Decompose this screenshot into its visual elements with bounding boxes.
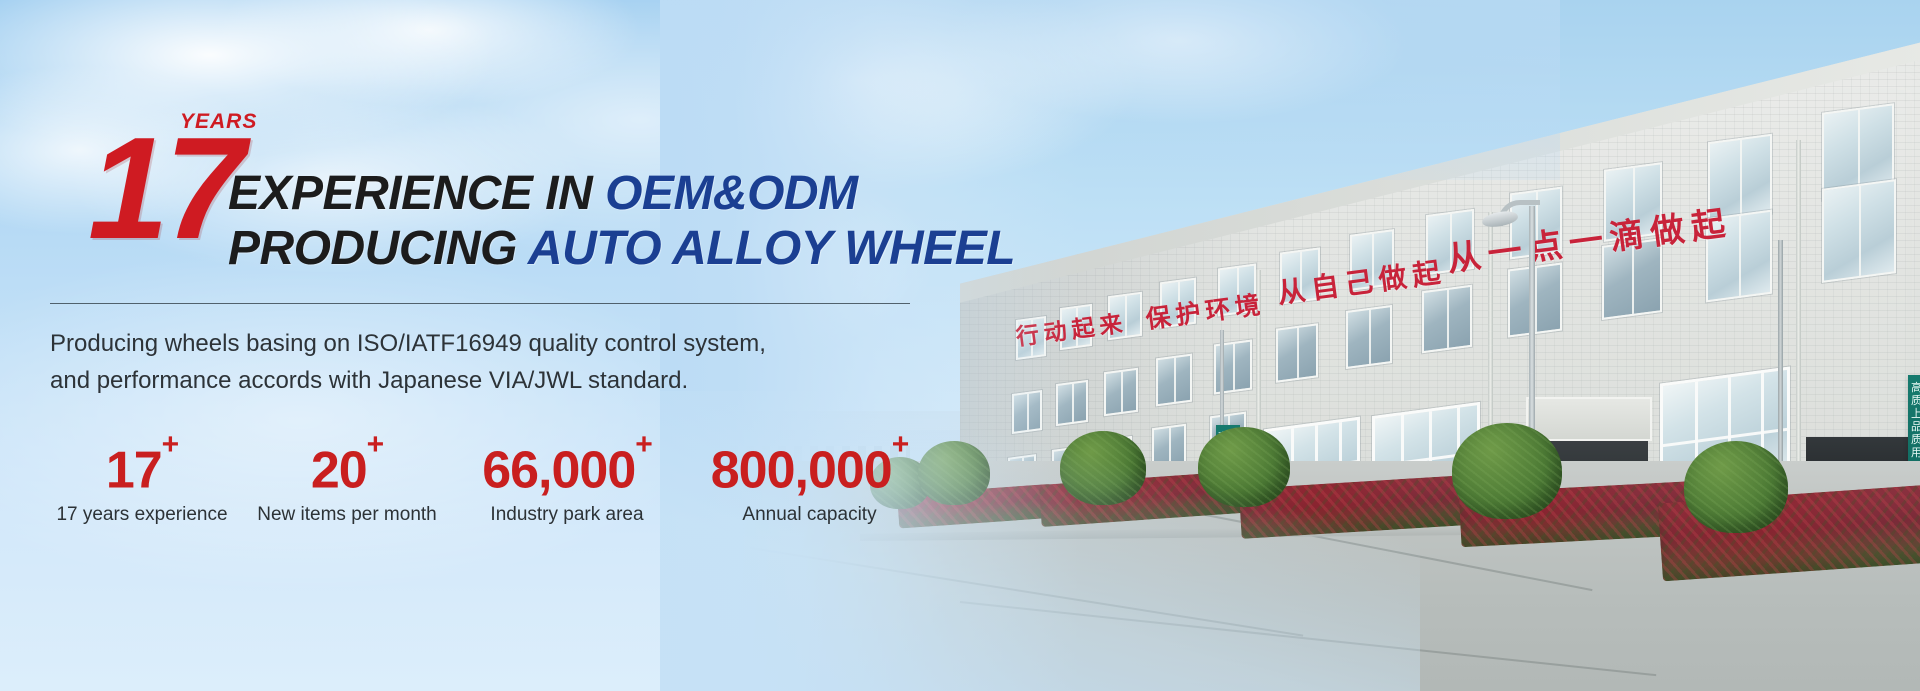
round-shrub [1452, 423, 1562, 519]
hero-banner: 行动起来 保护环境 从自己做起 从一点一滴做起 高品质成上海品牌质量用心 高品质… [0, 0, 1920, 691]
stat-value: 20 [311, 441, 367, 499]
headline-line2-dark: PRODUCING [228, 222, 528, 275]
hero-content: YEARS 17 EXPERIENCE IN OEM&ODM PRODUCING… [0, 0, 960, 691]
window [1346, 305, 1392, 369]
window [1156, 354, 1192, 407]
stat-label: Industry park area [452, 504, 682, 526]
description-paragraph: Producing wheels basing on ISO/IATF16949… [50, 325, 910, 399]
stat-item: 800,000+ Annual capacity [682, 432, 937, 526]
stat-value: 800,000 [711, 441, 892, 499]
downspout [1796, 140, 1801, 510]
headline-line1-dark: EXPERIENCE IN [228, 167, 605, 220]
years-number: 17 [88, 116, 241, 261]
stat-plus: + [635, 428, 652, 461]
stat-label: New items per month [242, 504, 452, 526]
stat-number: 20+ [242, 432, 452, 498]
stats-row: 17+ 17 years experience 20+ New items pe… [42, 432, 972, 526]
window [1822, 179, 1896, 283]
window [1422, 285, 1472, 354]
stat-value: 66,000 [482, 441, 635, 499]
garage-lintel [1526, 397, 1652, 441]
window [1276, 323, 1318, 383]
stat-item: 66,000+ Industry park area [452, 432, 682, 526]
window [1104, 368, 1138, 416]
stat-plus: + [367, 428, 384, 461]
stat-plus: + [162, 428, 179, 461]
stat-label: 17 years experience [42, 504, 242, 526]
stat-item: 20+ New items per month [242, 432, 452, 526]
stat-item: 17+ 17 years experience [42, 432, 242, 526]
stat-value: 17 [106, 441, 162, 499]
round-shrub [1198, 427, 1290, 507]
round-shrub [1060, 431, 1146, 505]
stat-number: 800,000+ [682, 432, 937, 498]
page-title: EXPERIENCE IN OEM&ODM PRODUCING AUTO ALL… [228, 166, 1015, 276]
window [1508, 262, 1562, 337]
paragraph-line-1: Producing wheels basing on ISO/IATF16949… [50, 330, 766, 357]
divider [50, 303, 910, 304]
stat-label: Annual capacity [682, 504, 937, 526]
paragraph-line-2: and performance accords with Japanese VI… [50, 367, 688, 394]
stat-number: 66,000+ [452, 432, 682, 498]
stat-number: 17+ [42, 432, 242, 498]
headline-line2-accent: AUTO ALLOY WHEEL [528, 222, 1015, 275]
headline-line1-accent: OEM&ODM [605, 167, 857, 220]
round-shrub [1684, 441, 1788, 533]
window [1056, 380, 1088, 426]
window [1012, 390, 1042, 434]
stat-plus: + [892, 428, 909, 461]
